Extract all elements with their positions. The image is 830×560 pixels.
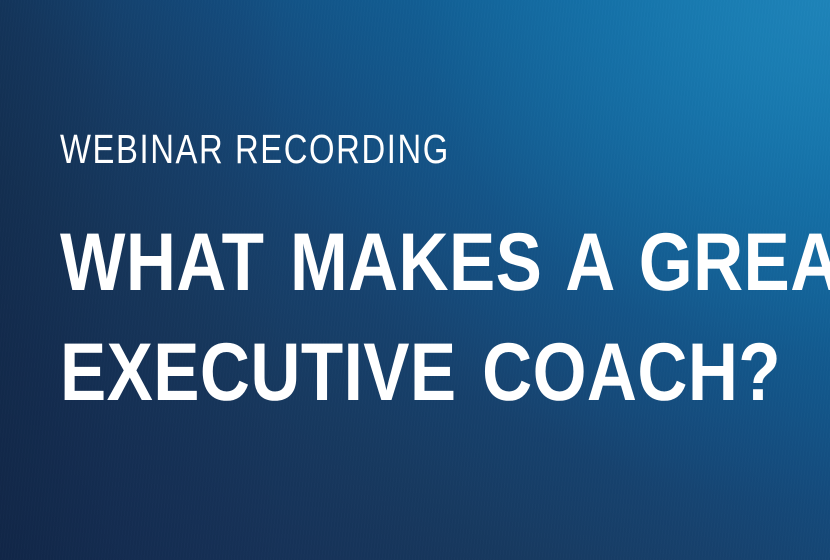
eyebrow-label: WEBINAR RECORDING [60, 126, 644, 172]
page-title: WHAT MAKES A GREAT EXECUTIVE COACH? [60, 208, 790, 428]
text-block: WEBINAR RECORDING WHAT MAKES A GREAT EXE… [60, 126, 790, 428]
headline-line-1: WHAT MAKES A GREAT [60, 208, 677, 318]
webinar-promo-card: WEBINAR RECORDING WHAT MAKES A GREAT EXE… [0, 0, 830, 560]
headline-line-2: EXECUTIVE COACH? [60, 318, 677, 428]
